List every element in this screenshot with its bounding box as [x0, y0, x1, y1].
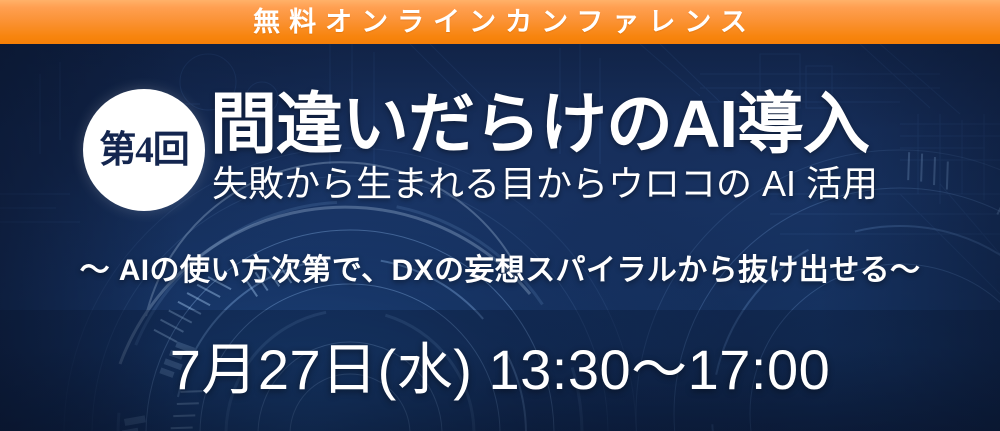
- top-announcement-label: 無料オンラインカンファレンス: [244, 9, 756, 36]
- sub-title: 失敗から生まれる目からウロコの AI 活用: [212, 164, 972, 204]
- top-announcement-strip: 無料オンラインカンファレンス: [0, 0, 1000, 44]
- tagline: 〜 AIの使い方次第で、DXの妄想スパイラルから抜け出せる〜: [0, 254, 1000, 287]
- edition-badge: 第4回: [83, 89, 205, 211]
- banner-content: 第4回 間違いだらけのAI導入 失敗から生まれる目からウロコの AI 活用 〜 …: [0, 44, 1000, 431]
- conference-banner: 無料オンラインカンファレンス: [0, 0, 1000, 431]
- event-datetime: 7月27日(水) 13:30〜17:00: [0, 339, 1000, 401]
- edition-badge-label: 第4回: [99, 132, 189, 169]
- main-title: 間違いだらけのAI導入: [210, 90, 960, 160]
